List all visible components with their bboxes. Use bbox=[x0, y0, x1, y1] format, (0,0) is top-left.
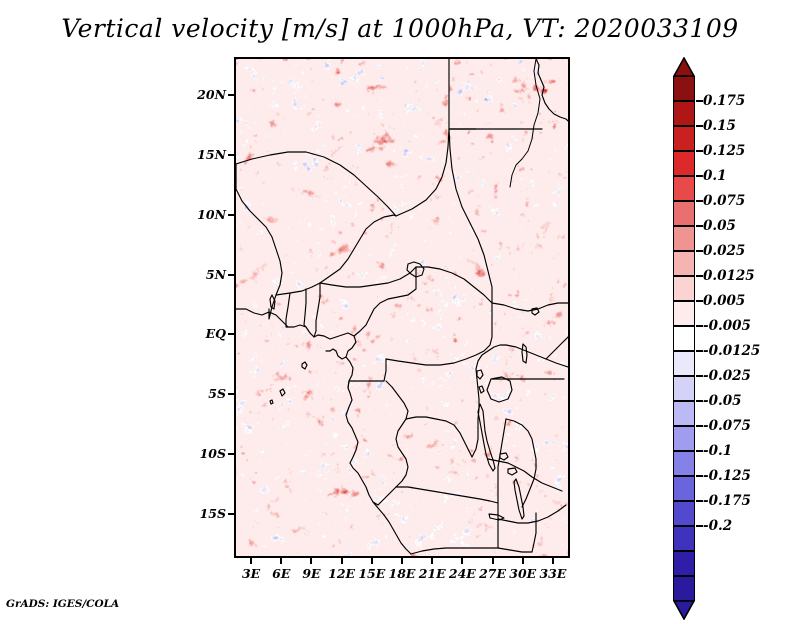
colorbar-tick-mark bbox=[696, 425, 703, 427]
lake-edward bbox=[479, 386, 484, 393]
colorbar: 0.1750.150.1250.10.0750.050.0250.01250.0… bbox=[673, 57, 695, 559]
colorbar-cell bbox=[673, 301, 695, 326]
colorbar-tick-mark bbox=[696, 175, 703, 177]
lake-turkana bbox=[522, 344, 527, 363]
border-drc-angola bbox=[396, 487, 498, 503]
colorbar-top-arrow bbox=[673, 57, 695, 76]
colorbar-tick-label: -0.05 bbox=[703, 393, 741, 409]
border-niger-nigeria bbox=[320, 267, 416, 287]
colorbar-tick-label: 0.175 bbox=[703, 93, 745, 109]
colorbar-cell bbox=[673, 251, 695, 276]
colorbar-tick-label: -0.0125 bbox=[703, 343, 760, 359]
border-libya-niger-chad bbox=[396, 59, 449, 216]
colorbar-cell bbox=[673, 76, 695, 101]
border-zambia-east bbox=[506, 419, 536, 507]
chart-title: Vertical velocity [m/s] at 1000hPa, VT: … bbox=[0, 14, 800, 43]
x-axis-tick-mark bbox=[492, 558, 494, 564]
colorbar-cell bbox=[673, 176, 695, 201]
colorbar-cell bbox=[673, 551, 695, 576]
colorbar-tick-mark bbox=[696, 450, 703, 452]
y-axis-tick-label: 20N bbox=[186, 87, 226, 102]
colorbar-cell bbox=[673, 401, 695, 426]
colorbar-bottom-arrow bbox=[673, 601, 695, 620]
border-ghana-east bbox=[286, 293, 290, 327]
lake-malawi bbox=[514, 479, 524, 519]
colorbar-tick-mark bbox=[696, 100, 703, 102]
island-sao-tome bbox=[280, 389, 285, 396]
y-axis-tick-label: 5N bbox=[186, 267, 226, 282]
colorbar-tick-mark bbox=[696, 475, 703, 477]
x-axis-tick-mark bbox=[522, 558, 524, 564]
colorbar-tick-mark bbox=[696, 275, 703, 277]
coastline-aden bbox=[566, 119, 568, 121]
colorbar-tick-label: -0.125 bbox=[703, 468, 751, 484]
colorbar-cell bbox=[673, 151, 695, 176]
colorbar-tick-mark bbox=[696, 300, 703, 302]
colorbar-tick-label: 0.125 bbox=[703, 143, 745, 159]
border-botswana-east bbox=[532, 513, 536, 552]
x-axis-tick-mark bbox=[461, 558, 463, 564]
border-gabon-coast bbox=[348, 381, 349, 388]
y-axis-tick-label: 15N bbox=[186, 147, 226, 162]
border-nigeria-cameroon bbox=[354, 267, 416, 336]
colorbar-tick-label: 0.0125 bbox=[703, 268, 755, 284]
x-axis-tick-label: 33E bbox=[533, 566, 573, 581]
colorbar-cell bbox=[673, 201, 695, 226]
lake-tanganyika bbox=[478, 404, 495, 471]
colorbar-cell bbox=[673, 576, 695, 601]
map-plot-area bbox=[234, 57, 570, 558]
y-axis-tick-mark bbox=[228, 393, 234, 395]
colorbar-cell bbox=[673, 351, 695, 376]
x-axis-tick-mark bbox=[310, 558, 312, 564]
x-axis-tick-mark bbox=[250, 558, 252, 564]
colorbar-tick-mark bbox=[696, 250, 703, 252]
border-mali-niger bbox=[320, 215, 396, 283]
border-mali-burkina bbox=[276, 283, 320, 295]
attribution-footer: GrADS: IGES/COLA bbox=[6, 598, 119, 610]
x-axis-tick-mark bbox=[371, 558, 373, 564]
y-axis-tick-mark bbox=[228, 214, 234, 216]
colorbar-tick-label: -0.2 bbox=[703, 518, 732, 534]
y-axis-tick-label: 5S bbox=[186, 386, 226, 401]
x-axis-tick-mark bbox=[431, 558, 433, 564]
lake-victoria bbox=[487, 377, 512, 402]
colorbar-tick-label: 0.15 bbox=[703, 118, 736, 134]
border-congo-drc bbox=[406, 417, 472, 457]
island-principe bbox=[270, 400, 273, 404]
colorbar-tick-mark bbox=[696, 200, 703, 202]
colorbar-cell bbox=[673, 451, 695, 476]
colorbar-tick-label: 0.05 bbox=[703, 218, 736, 234]
colorbar-cell bbox=[673, 101, 695, 126]
y-axis-tick-mark bbox=[228, 453, 234, 455]
x-axis-tick-mark bbox=[552, 558, 554, 564]
y-axis-tick-mark bbox=[228, 333, 234, 335]
colorbar-tick-mark bbox=[696, 225, 703, 227]
x-axis-tick-mark bbox=[280, 558, 282, 564]
colorbar-tick-mark bbox=[696, 400, 703, 402]
colorbar-cell bbox=[673, 126, 695, 151]
border-angola-namibia bbox=[411, 548, 498, 554]
colorbar-cell bbox=[673, 226, 695, 251]
colorbar-cell bbox=[673, 501, 695, 526]
x-axis-tick-mark bbox=[401, 558, 403, 564]
y-axis-tick-label: EQ bbox=[186, 326, 226, 341]
colorbar-tick-label: -0.1 bbox=[703, 443, 732, 459]
lake-kariba bbox=[489, 514, 504, 520]
y-axis-tick-label: 10N bbox=[186, 207, 226, 222]
colorbar-tick-mark bbox=[696, 350, 703, 352]
colorbar-cell bbox=[673, 326, 695, 351]
island-bioko bbox=[302, 362, 307, 369]
y-axis-tick-mark bbox=[228, 274, 234, 276]
border-mali-west bbox=[236, 164, 282, 295]
colorbar-cell bbox=[673, 376, 695, 401]
colorbar-tick-label: -0.005 bbox=[703, 318, 751, 334]
border-benin bbox=[314, 283, 320, 337]
border-gabon-congo bbox=[373, 381, 408, 505]
y-axis-tick-mark bbox=[228, 94, 234, 96]
colorbar-tick-label: -0.075 bbox=[703, 418, 751, 434]
y-axis-tick-label: 15S bbox=[186, 506, 226, 521]
colorbar-tick-mark bbox=[696, 125, 703, 127]
map-outlines bbox=[236, 59, 568, 556]
border-zimbabwe-north bbox=[498, 505, 566, 523]
colorbar-tick-label: 0.075 bbox=[703, 193, 745, 209]
colorbar-tick-label: 0.005 bbox=[703, 293, 745, 309]
colorbar-tick-label: -0.175 bbox=[703, 493, 751, 509]
colorbar-tick-mark bbox=[696, 375, 703, 377]
y-axis-tick-mark bbox=[228, 513, 234, 515]
coastline-niger-delta bbox=[326, 336, 356, 359]
colorbar-tick-label: 0.025 bbox=[703, 243, 745, 259]
x-axis-tick-mark bbox=[341, 558, 343, 564]
coastline-red-sea bbox=[536, 59, 566, 119]
y-axis-tick-mark bbox=[228, 154, 234, 156]
coastline-angola bbox=[350, 463, 411, 554]
border-uganda-kenya bbox=[506, 345, 568, 367]
coastline-gulf-of-guinea bbox=[236, 309, 354, 339]
colorbar-tick-mark bbox=[696, 500, 703, 502]
colorbar-tick-label: 0.1 bbox=[703, 168, 727, 184]
border-sudan-ethiopia bbox=[492, 303, 568, 311]
colorbar-cell bbox=[673, 526, 695, 551]
border-togo bbox=[304, 289, 306, 327]
colorbar-cell bbox=[673, 276, 695, 301]
border-botswana-zimbabwe bbox=[498, 548, 532, 552]
lake-bangweulu bbox=[508, 468, 517, 475]
coastline-cameroon-gabon bbox=[346, 357, 358, 463]
y-axis-tick-label: 10S bbox=[186, 446, 226, 461]
border-chad-car bbox=[416, 267, 492, 303]
colorbar-tick-mark bbox=[696, 525, 703, 527]
colorbar-cell bbox=[673, 476, 695, 501]
river-nile bbox=[510, 59, 540, 187]
colorbar-tick-mark bbox=[696, 150, 703, 152]
lake-albert bbox=[477, 370, 483, 379]
border-algeria-mali-niger bbox=[236, 152, 396, 216]
colorbar-tick-label: -0.025 bbox=[703, 368, 751, 384]
colorbar-cell bbox=[673, 426, 695, 451]
border-ethiopia-somalia bbox=[546, 337, 568, 359]
border-cameroon-gabon bbox=[349, 359, 386, 381]
border-car-drc bbox=[386, 303, 492, 365]
colorbar-tick-mark bbox=[696, 325, 703, 327]
lake-mweru bbox=[500, 453, 508, 460]
border-chad-sudan bbox=[449, 129, 492, 303]
